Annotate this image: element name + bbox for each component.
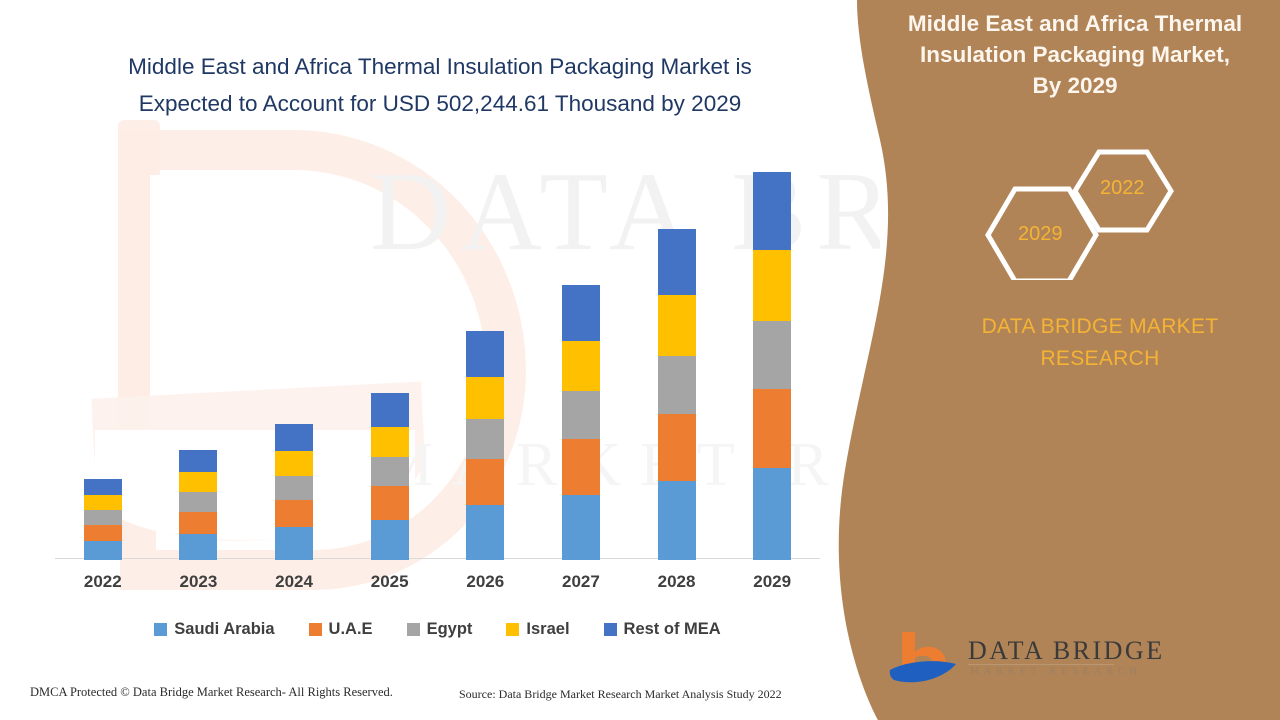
bar-segment-rest-of-mea-2027 xyxy=(562,285,600,341)
bar-segment-israel-2028 xyxy=(658,295,696,356)
legend-swatch-icon xyxy=(604,623,617,636)
brand-name: DATA BRIDGE MARKET RESEARCH xyxy=(950,311,1250,375)
legend-item-rest-of-mea[interactable]: Rest of MEA xyxy=(604,620,721,639)
chart-legend: Saudi ArabiaU.A.EEgyptIsraelRest of MEA xyxy=(55,615,820,643)
bar-segment-egypt-2026 xyxy=(466,419,504,459)
bar-segment-rest-of-mea-2023 xyxy=(179,450,217,472)
chart-x-axis-labels: 20222023202420252026202720282029 xyxy=(55,572,820,600)
legend-item-saudi-arabia[interactable]: Saudi Arabia xyxy=(154,620,274,639)
x-axis-label-2022: 2022 xyxy=(63,572,143,592)
x-axis-label-2026: 2026 xyxy=(445,572,525,592)
bar-segment-u-a-e-2028 xyxy=(658,414,696,481)
bar-segment-egypt-2024 xyxy=(275,476,313,500)
bar-segment-egypt-2029 xyxy=(753,321,791,389)
bar-2022 xyxy=(84,479,122,560)
logo-subtitle: MARKET RESEARCH xyxy=(970,666,1142,677)
bar-segment-saudi-arabia-2029 xyxy=(753,468,791,560)
bar-segment-rest-of-mea-2024 xyxy=(275,424,313,451)
legend-item-egypt[interactable]: Egypt xyxy=(407,620,473,639)
legend-swatch-icon xyxy=(154,623,167,636)
bar-segment-egypt-2022 xyxy=(84,510,122,525)
bar-segment-u-a-e-2025 xyxy=(371,486,409,520)
hexagon-label-2029: 2029 xyxy=(1018,223,1063,246)
legend-swatch-icon xyxy=(407,623,420,636)
legend-item-u-a-e[interactable]: U.A.E xyxy=(309,620,373,639)
logo-title: DATA BRIDGE xyxy=(968,636,1165,666)
logo-divider xyxy=(968,664,1114,665)
bar-segment-rest-of-mea-2028 xyxy=(658,229,696,295)
hexagon-label-2022: 2022 xyxy=(1100,177,1145,200)
bar-segment-saudi-arabia-2023 xyxy=(179,534,217,560)
bar-2028 xyxy=(658,229,696,560)
bar-2023 xyxy=(179,450,217,560)
legend-swatch-icon xyxy=(309,623,322,636)
stacked-bar-chart xyxy=(55,170,820,560)
bar-segment-saudi-arabia-2025 xyxy=(371,520,409,560)
legend-item-israel[interactable]: Israel xyxy=(506,620,569,639)
bar-segment-israel-2025 xyxy=(371,427,409,457)
legend-label: U.A.E xyxy=(329,620,373,639)
bar-segment-rest-of-mea-2022 xyxy=(84,479,122,495)
bar-segment-rest-of-mea-2025 xyxy=(371,393,409,427)
logo-mark-icon xyxy=(888,628,966,694)
bar-segment-saudi-arabia-2024 xyxy=(275,527,313,560)
bar-segment-u-a-e-2026 xyxy=(466,459,504,505)
bar-2025 xyxy=(371,393,409,560)
legend-label: Saudi Arabia xyxy=(174,620,274,639)
bar-segment-u-a-e-2024 xyxy=(275,500,313,527)
bar-segment-u-a-e-2023 xyxy=(179,512,217,534)
bar-segment-saudi-arabia-2027 xyxy=(562,495,600,560)
bar-2024 xyxy=(275,424,313,560)
bar-2027 xyxy=(562,285,600,560)
bar-2029 xyxy=(753,172,791,560)
x-axis-label-2024: 2024 xyxy=(254,572,334,592)
bar-segment-saudi-arabia-2028 xyxy=(658,481,696,560)
bar-segment-saudi-arabia-2026 xyxy=(466,505,504,560)
bar-segment-israel-2029 xyxy=(753,250,791,321)
infographic-canvas: DATA BRIDGE MARKET RESEARCH Middle East … xyxy=(0,0,1280,720)
bar-segment-rest-of-mea-2029 xyxy=(753,172,791,250)
bar-segment-saudi-arabia-2022 xyxy=(84,541,122,560)
bar-segment-israel-2023 xyxy=(179,472,217,492)
footer-source: Source: Data Bridge Market Research Mark… xyxy=(459,687,782,702)
bar-segment-rest-of-mea-2026 xyxy=(466,331,504,377)
bar-segment-u-a-e-2022 xyxy=(84,525,122,541)
bar-segment-egypt-2028 xyxy=(658,356,696,414)
footer-copyright: DMCA Protected © Data Bridge Market Rese… xyxy=(30,685,393,700)
hexagon-group: 2022 2029 xyxy=(975,145,1190,280)
panel-title: Middle East and Africa Thermal Insulatio… xyxy=(900,8,1250,101)
legend-swatch-icon xyxy=(506,623,519,636)
bar-segment-egypt-2025 xyxy=(371,457,409,486)
bar-segment-israel-2022 xyxy=(84,495,122,510)
bar-segment-israel-2027 xyxy=(562,341,600,391)
data-bridge-logo: DATA BRIDGE MARKET RESEARCH xyxy=(888,628,1118,700)
bar-segment-israel-2024 xyxy=(275,451,313,476)
bar-segment-israel-2026 xyxy=(466,377,504,419)
bar-segment-egypt-2027 xyxy=(562,391,600,439)
legend-label: Egypt xyxy=(427,620,473,639)
x-axis-label-2023: 2023 xyxy=(158,572,238,592)
legend-label: Rest of MEA xyxy=(624,620,721,639)
x-axis-label-2028: 2028 xyxy=(637,572,717,592)
bar-segment-egypt-2023 xyxy=(179,492,217,512)
bar-2026 xyxy=(466,331,504,560)
bar-segment-u-a-e-2027 xyxy=(562,439,600,495)
x-axis-label-2025: 2025 xyxy=(350,572,430,592)
legend-label: Israel xyxy=(526,620,569,639)
x-axis-label-2029: 2029 xyxy=(732,572,812,592)
x-axis-label-2027: 2027 xyxy=(541,572,621,592)
bar-segment-u-a-e-2029 xyxy=(753,389,791,468)
page-title: Middle East and Africa Thermal Insulatio… xyxy=(60,48,820,122)
